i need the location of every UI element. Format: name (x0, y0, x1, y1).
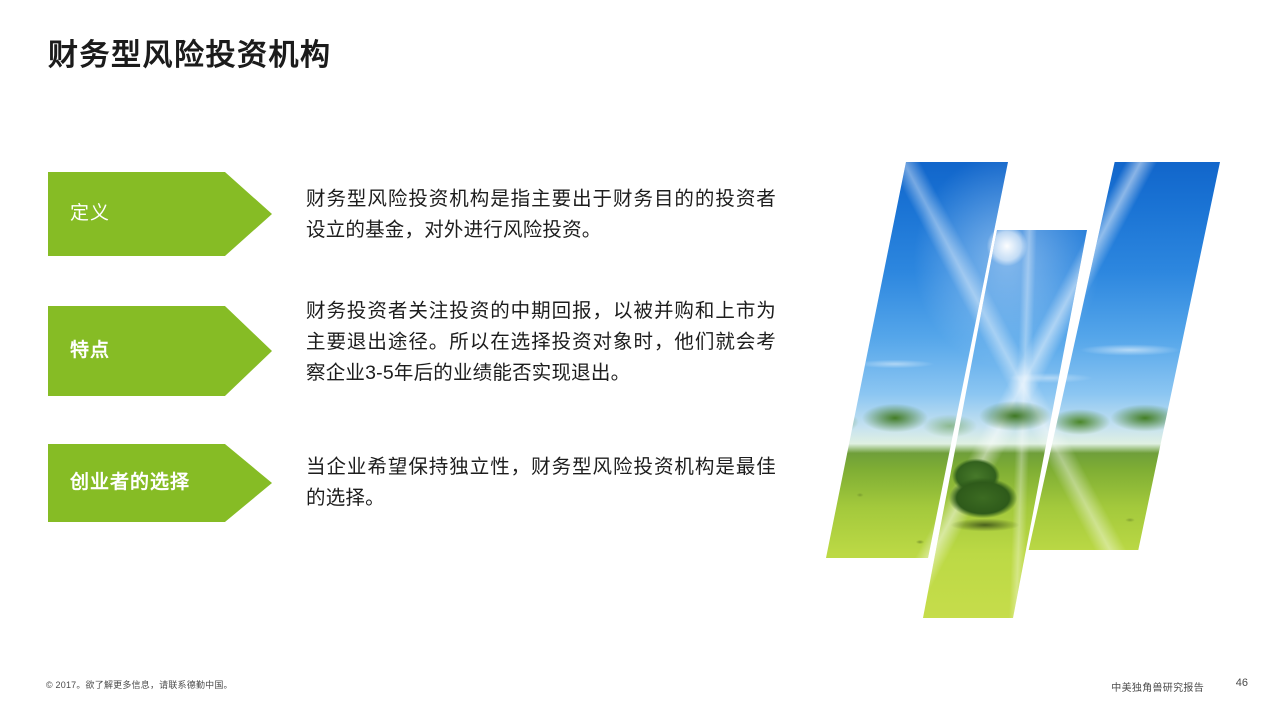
slide-root: 财务型风险投资机构 定义 财务型风险投资机构是指主要出于财务目的的投资者设立的基… (0, 0, 1280, 720)
footer-report-name: 中美独角兽研究报告 (1111, 679, 1204, 694)
section-row-features: 特点 (48, 306, 272, 396)
arrow-tag-features[interactable]: 特点 (48, 306, 272, 396)
slanted-photo-collage (800, 150, 1250, 620)
section-body-founder-choice: 当企业希望保持独立性，财务型风险投资机构是最佳的选择。 (306, 452, 776, 514)
page-number: 46 (1236, 677, 1248, 689)
section-body-features: 财务投资者关注投资的中期回报，以被并购和上市为主要退出途径。所以在选择投资对象时… (306, 296, 776, 389)
footer-copyright: © 2017。欲了解更多信息，请联系德勤中国。 (46, 678, 233, 691)
arrow-tag-label-features: 特点 (70, 341, 110, 362)
arrow-tag-founder-choice[interactable]: 创业者的选择 (48, 444, 272, 522)
section-row-definition: 定义 (48, 172, 272, 256)
arrow-tag-label-definition: 定义 (70, 204, 110, 225)
section-body-definition: 财务型风险投资机构是指主要出于财务目的的投资者设立的基金，对外进行风险投资。 (306, 184, 776, 246)
section-row-founder-choice: 创业者的选择 (48, 444, 272, 522)
arrow-tag-definition[interactable]: 定义 (48, 172, 272, 256)
content-area: 定义 财务型风险投资机构是指主要出于财务目的的投资者设立的基金，对外进行风险投资… (0, 0, 820, 720)
arrow-tag-label-founder-choice: 创业者的选择 (70, 473, 190, 494)
